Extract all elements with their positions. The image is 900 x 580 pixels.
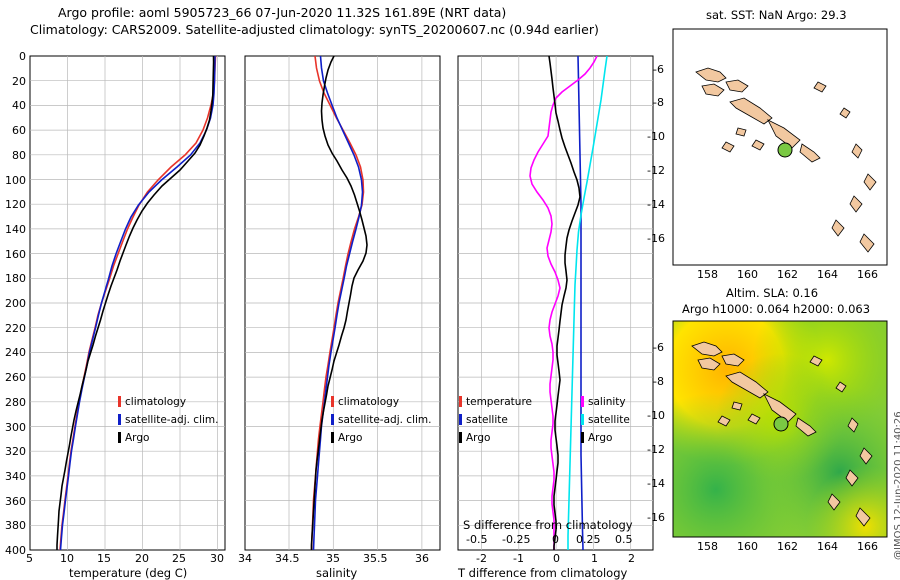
t-xtick: 2 — [628, 552, 635, 565]
depth-tick: 320 — [2, 445, 26, 458]
legend-item-label: Argo — [338, 432, 431, 445]
depth-tick: 40 — [8, 99, 26, 112]
sst-map-ytick: -10 — [647, 130, 665, 143]
sla-map-xtick: 158 — [697, 540, 718, 553]
sst-map-xtick: 166 — [857, 268, 878, 281]
depth-tick: 100 — [2, 174, 26, 187]
depth-tick: 180 — [2, 272, 26, 285]
legend-item-label: salinity — [588, 396, 630, 409]
temperature-xtick: 30 — [210, 552, 224, 565]
sla-map-ytick: -6 — [653, 341, 664, 354]
sla-map-title-2: Argo h1000: 0.064 h2000: 0.063 — [682, 302, 870, 316]
depth-tick: 160 — [2, 248, 26, 261]
legend-item-label: satellite-adj. clim. — [338, 414, 431, 427]
legend-item-label: climatology — [125, 396, 218, 409]
difference-xlabel: T difference from climatology — [458, 566, 627, 580]
sla-map-title-1: Altim. SLA: 0.16 — [726, 286, 818, 300]
s-xtick: -0.5 — [466, 533, 487, 546]
temperature-xtick: 15 — [97, 552, 111, 565]
sla-map-ytick: -16 — [647, 511, 665, 524]
t-xtick: 0 — [553, 552, 560, 565]
depth-tick: 120 — [2, 198, 26, 211]
sst-map-xtick: 162 — [777, 268, 798, 281]
legend-difference-right-text: salinity satellite Argo — [588, 396, 630, 445]
sst-map-ytick: -16 — [647, 232, 665, 245]
depth-tick: 200 — [2, 297, 26, 310]
depth-tick: 260 — [2, 371, 26, 384]
depth-tick: 380 — [2, 519, 26, 532]
sst-map-xtick: 160 — [737, 268, 758, 281]
panel-difference — [458, 56, 653, 550]
sst-map-ytick: -14 — [647, 198, 665, 211]
legend-item-label: climatology — [338, 396, 431, 409]
t-xtick: -1 — [513, 552, 524, 565]
depth-tick: 140 — [2, 223, 26, 236]
sst-map-ytick: -12 — [647, 164, 665, 177]
sla-map-ytick: -10 — [647, 409, 665, 422]
temperature-xtick: 5 — [26, 552, 33, 565]
temperature-xtick: 20 — [135, 552, 149, 565]
depth-tick: 360 — [2, 495, 26, 508]
sst-map-title: sat. SST: NaN Argo: 29.3 — [706, 8, 847, 22]
s-xtick: -0.25 — [502, 533, 530, 546]
temperature-xtick: 10 — [60, 552, 74, 565]
sla-map-ytick: -14 — [647, 477, 665, 490]
legend-item-label: satellite-adj. clim. — [125, 414, 218, 427]
legend-item-label: Argo — [466, 432, 532, 445]
sst-map-ytick: -8 — [653, 96, 664, 109]
sla-map-ytick: -12 — [647, 443, 665, 456]
depth-tick: 300 — [2, 421, 26, 434]
depth-tick: 0 — [14, 50, 26, 63]
sla-map-xtick: 164 — [817, 540, 838, 553]
sst-map-xtick: 164 — [817, 268, 838, 281]
s-xtick: 0 — [552, 533, 559, 546]
sla-map-xtick: 166 — [857, 540, 878, 553]
temperature-xlabel: temperature (deg C) — [69, 566, 187, 580]
temperature-xtick: 25 — [172, 552, 186, 565]
legend-temperature-text: climatology satellite-adj. clim. Argo — [125, 396, 218, 445]
salinity-xtick: 36 — [415, 552, 429, 565]
salinity-xtick: 34.5 — [275, 552, 300, 565]
legend-item-label: satellite — [466, 414, 532, 427]
profile-plots — [0, 0, 670, 580]
depth-tick: 80 — [8, 149, 26, 162]
legend-salinity — [331, 396, 334, 443]
salinity-xtick: 35.5 — [363, 552, 388, 565]
depth-tick: 20 — [8, 75, 26, 88]
s-xtick: 0.5 — [615, 533, 633, 546]
sla-map — [668, 316, 892, 566]
sst-map-ytick: -6 — [653, 63, 664, 76]
salinity-xtick: 34 — [238, 552, 252, 565]
salinity-xtick: 35 — [326, 552, 340, 565]
legend-item-label: satellite — [588, 414, 630, 427]
depth-tick: 60 — [8, 124, 26, 137]
depth-tick: 220 — [2, 322, 26, 335]
difference-s-label: S difference from climatology — [463, 518, 633, 532]
sst-map — [668, 24, 892, 274]
depth-tick: 240 — [2, 346, 26, 359]
legend-item-label: Argo — [588, 432, 630, 445]
t-xtick: -2 — [476, 552, 487, 565]
depth-tick: 280 — [2, 396, 26, 409]
sla-map-ytick: -8 — [653, 375, 664, 388]
legend-salinity-text: climatology satellite-adj. clim. Argo — [338, 396, 431, 445]
sla-map-xtick: 160 — [737, 540, 758, 553]
legend-item-label: Argo — [125, 432, 218, 445]
depth-tick: 340 — [2, 470, 26, 483]
panel-salinity — [245, 56, 440, 550]
s-xtick: 0.25 — [576, 533, 601, 546]
legend-difference-left-text: temperature satellite Argo — [466, 396, 532, 445]
salinity-xlabel: salinity — [316, 566, 357, 580]
depth-tick: 400 — [2, 544, 26, 557]
t-xtick: 1 — [591, 552, 598, 565]
panel-temperature — [30, 56, 225, 550]
sla-map-xtick: 162 — [777, 540, 798, 553]
watermark-text: @IMOS 12-Jun-2020 11:40:26 — [893, 411, 900, 560]
figure-root: Argo profile: aoml 5905723_66 07-Jun-202… — [0, 0, 900, 580]
sst-map-xtick: 158 — [697, 268, 718, 281]
legend-item-label: temperature — [466, 396, 532, 409]
legend-temperature — [118, 396, 121, 443]
